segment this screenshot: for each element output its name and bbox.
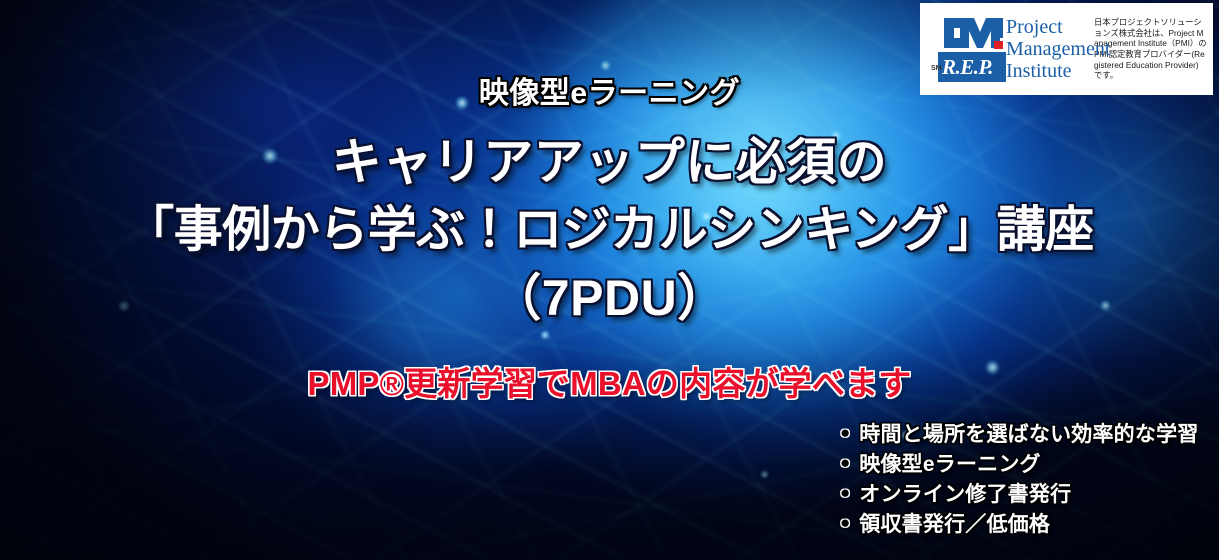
title-line-1: キャリアアップに必須の — [0, 128, 1219, 196]
pmi-word-institute: Institute — [1006, 60, 1110, 82]
bullet-icon: ● — [840, 484, 850, 501]
pmi-logo-icon: SM R.E.P. Project Management Institute — [930, 12, 1088, 86]
service-mark-label: SM — [931, 65, 942, 72]
pmi-word-management: Management — [1006, 38, 1110, 60]
list-item: ● 映像型eラーニング — [840, 448, 1215, 477]
list-item: ● 領収書発行／低価格 — [840, 508, 1215, 537]
pmi-word-project: Project — [1006, 16, 1110, 38]
list-item: ● オンライン修了書発行 — [840, 478, 1215, 507]
banner-subtitle: PMP®更新学習でMBAの内容が学べます — [0, 357, 1219, 405]
banner-title: キャリアアップに必須の 「事例から学ぶ！ロジカルシンキング」講座 （7PDU） — [0, 128, 1219, 332]
feature-list: ● 時間と場所を選ばない効率的な学習 ● 映像型eラーニング ● オンライン修了… — [840, 418, 1215, 538]
feature-label: 時間と場所を選ばない効率的な学習 — [859, 418, 1198, 448]
rep-label: R.E.P. — [942, 55, 993, 80]
rep-description-text: 日本プロジェクトソリューションズ株式会社は、Project Management… — [1094, 17, 1207, 81]
pmi-wordmark: Project Management Institute — [1006, 16, 1110, 82]
title-line-2: 「事例から学ぶ！ロジカルシンキング」講座 — [0, 196, 1219, 264]
feature-label: 領収書発行／低価格 — [859, 508, 1050, 538]
title-line-3: （7PDU） — [0, 264, 1219, 332]
bullet-icon: ● — [840, 514, 850, 531]
feature-label: 映像型eラーニング — [859, 448, 1040, 478]
course-promo-banner: 映像型eラーニング キャリアアップに必須の 「事例から学ぶ！ロジカルシンキング」… — [0, 0, 1219, 560]
feature-label: オンライン修了書発行 — [859, 478, 1071, 508]
list-item: ● 時間と場所を選ばない効率的な学習 — [840, 418, 1215, 447]
bullet-icon: ● — [840, 424, 850, 441]
bullet-icon: ● — [840, 454, 850, 471]
pmi-rep-logo-card: SM R.E.P. Project Management Institute 日… — [920, 3, 1213, 95]
